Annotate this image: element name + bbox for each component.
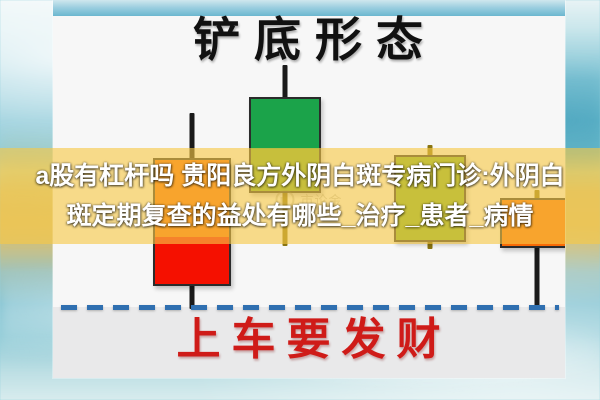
candle-2-wick-upper: [283, 65, 288, 100]
caption-line-1: a股有杠杆吗 贵阳良方外阴白斑专病门诊:外阴白: [0, 156, 600, 196]
candle-1-wick-upper: [190, 113, 195, 161]
candle-4-wick-lower: [535, 245, 540, 307]
chart-title-bottom: 上车要发财: [53, 318, 565, 362]
caption-overlay: a股有杠杆吗 贵阳良方外阴白斑专病门诊:外阴白 斑定期复查的益处有哪些_治疗_患…: [0, 156, 600, 236]
support-line: [61, 305, 559, 310]
image-canvas: 铲底形态: [0, 0, 600, 400]
caption-line-2: 斑定期复查的益处有哪些_治疗_患者_病情: [0, 196, 600, 236]
